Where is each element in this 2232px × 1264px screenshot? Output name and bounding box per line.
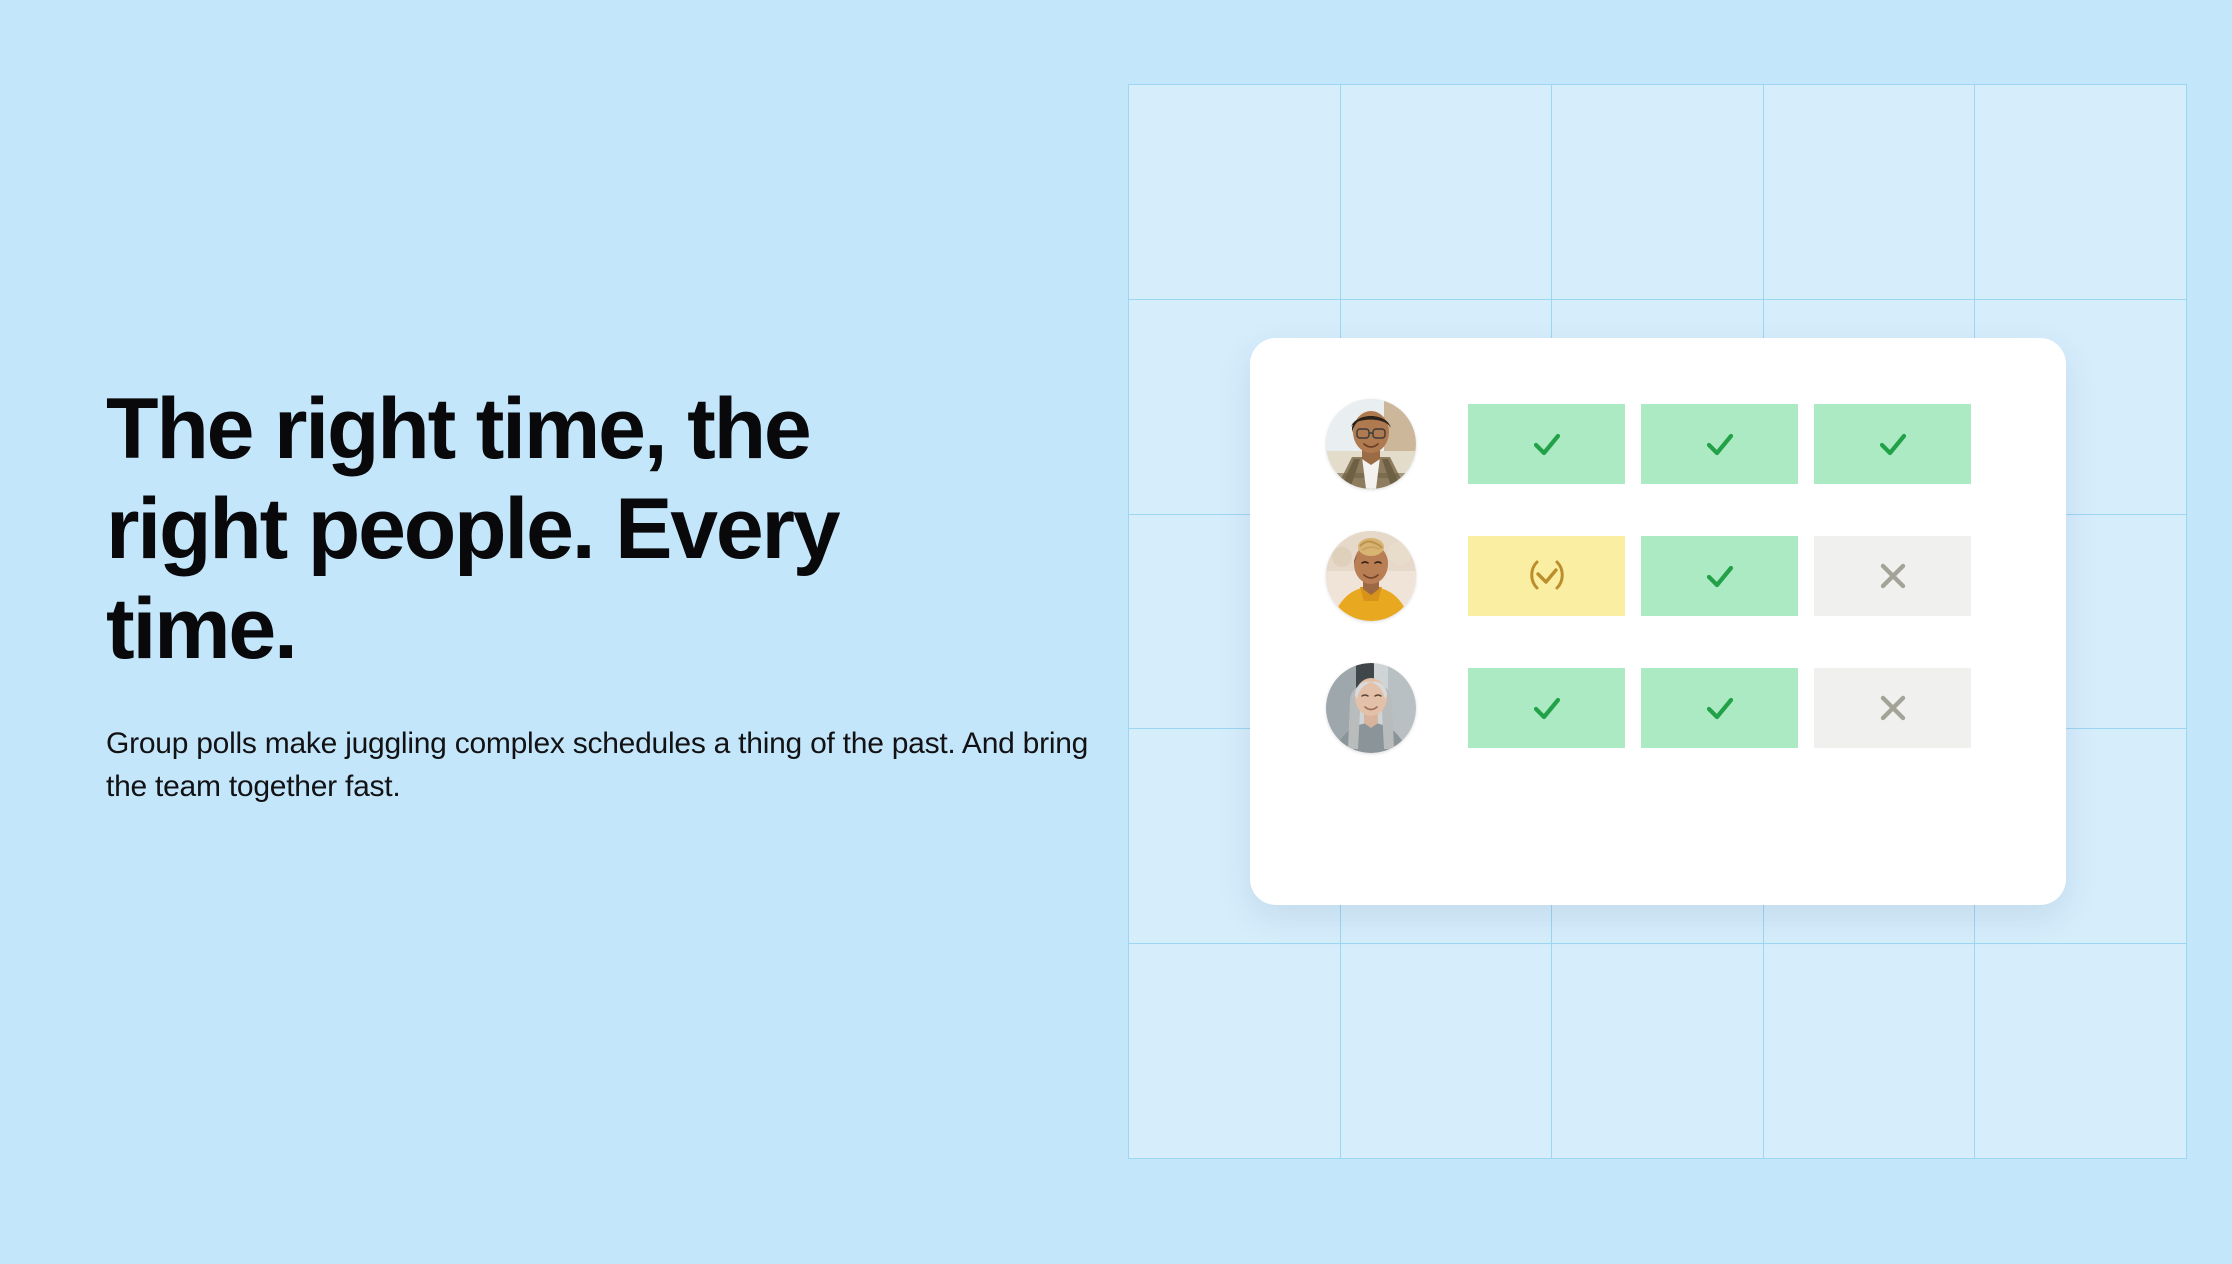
response-cell-yes[interactable] — [1468, 404, 1625, 484]
hero-section: The right time, the right people. Every … — [0, 0, 2232, 1264]
poll-row — [1250, 668, 2066, 748]
response-cell-yes[interactable] — [1468, 668, 1625, 748]
avatar — [1326, 663, 1416, 753]
response-cell-no[interactable] — [1814, 668, 1971, 748]
grid-cell — [1975, 944, 2187, 1159]
response-cells — [1468, 536, 1971, 616]
group-poll-card — [1250, 338, 2066, 905]
grid-cell — [1975, 85, 2187, 300]
avatar — [1326, 399, 1416, 489]
response-cells — [1468, 404, 1971, 484]
response-cell-yes[interactable] — [1814, 404, 1971, 484]
grid-cell — [1552, 944, 1764, 1159]
grid-cell — [1341, 944, 1553, 1159]
grid-cell — [1341, 85, 1553, 300]
response-cell-yes[interactable] — [1641, 536, 1798, 616]
grid-cell — [1552, 85, 1764, 300]
response-cells — [1468, 668, 1971, 748]
poll-row — [1250, 536, 2066, 616]
hero-subcopy: Group polls make juggling complex schedu… — [106, 723, 1106, 808]
response-cell-yes[interactable] — [1641, 668, 1798, 748]
grid-cell — [1764, 944, 1976, 1159]
response-cell-if-needed[interactable] — [1468, 536, 1625, 616]
page-title: The right time, the right people. Every … — [106, 380, 986, 679]
response-cell-yes[interactable] — [1641, 404, 1798, 484]
grid-cell — [1129, 85, 1341, 300]
response-cell-no[interactable] — [1814, 536, 1971, 616]
hero-copy: The right time, the right people. Every … — [106, 380, 1106, 808]
grid-cell — [1129, 944, 1341, 1159]
poll-row — [1250, 404, 2066, 484]
grid-cell — [1764, 85, 1976, 300]
avatar — [1326, 531, 1416, 621]
